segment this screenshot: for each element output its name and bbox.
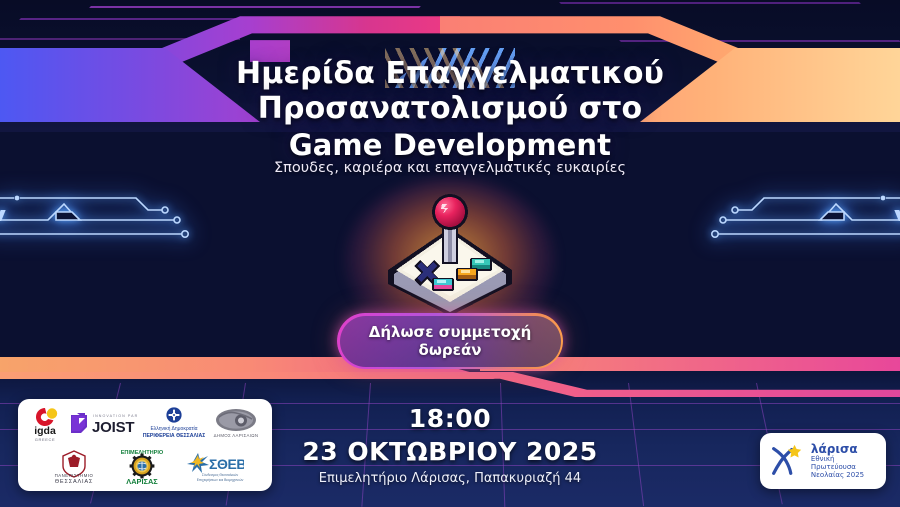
sponsor-logo-dimos-larisaion: ΔΗΜΟΣ ΛΑΡΙΣΑΙΩΝ: [210, 406, 262, 444]
larisa-badge-text: λάρισα Εθνική Πρωτεύουσα Νεολαίας 2025: [811, 443, 878, 480]
poster-content: Ημερίδα Επαγγελματικού Προσανατολισμού σ…: [0, 0, 900, 507]
sponsor-uth-line1: ΠΑΝΕΠΙΣΤΗΜΙΟ: [54, 473, 93, 478]
register-button-inner[interactable]: Δήλωσε συμμετοχή δωρεάν: [340, 316, 561, 367]
sponsor-stheb-name: ΣΘΕΒ: [209, 456, 244, 472]
larisa-badge-name: λάρισα: [811, 443, 878, 456]
sponsor-perifereia-line1: Ελληνική Δημοκρατία: [150, 425, 197, 432]
sponsor-logo-joist: INNOVATION PARK JOIST: [67, 409, 137, 441]
register-button[interactable]: Δήλωσε συμμετοχή δωρεάν: [337, 313, 563, 369]
title-line-1: Ημερίδα Επαγγελματικού: [0, 57, 900, 92]
sponsor-stheb-line2: Επιχειρήσεων και Βιομηχανιών: [197, 478, 244, 482]
subtitle: Σπουδες, καριέρα και επαγγελματικές ευκα…: [0, 160, 900, 176]
larisa-badge-sub2: Νεολαίας 2025: [811, 472, 878, 480]
sponsor-igda-sub: GREECE: [35, 437, 56, 442]
arcade-joystick-icon: [370, 192, 530, 322]
star-icon: [788, 445, 801, 458]
larisa-badge-sub1: Εθνική Πρωτεύουσα: [811, 456, 878, 472]
larisa-x-icon: [768, 442, 806, 480]
title-line-3: Game Development: [0, 129, 900, 163]
button-orange: [456, 268, 478, 281]
sponsor-joist-name: JOIST: [92, 419, 134, 436]
sponsor-uth-line2: ΘΕΣΣΑΛΙΑΣ: [54, 479, 92, 485]
sponsor-logo-epimelitirio-larisas: ΕΠΙΜΕΛΗΤΗΡΙΟ: [111, 448, 173, 486]
sponsor-logos-panel: igda GREECE INNOVATION PARK JOIST: [18, 399, 272, 491]
sponsor-perifereia-line2: ΠΕΡΙΦΕΡΕΙΑ ΘΕΣΣΑΛΙΑΣ: [143, 433, 205, 439]
sponsor-igda-name: igda: [34, 425, 56, 437]
page-title: Ημερίδα Επαγγελματικού Προσανατολισμού σ…: [0, 57, 900, 162]
arcade-joystick-illustration: [340, 192, 560, 322]
sponsor-row-top: igda GREECE INNOVATION PARK JOIST: [25, 405, 265, 445]
sponsor-stheb-line1: Σύνδεσμος Θεσσαλικών: [202, 473, 239, 477]
register-button-label-line2: δωρεάν: [419, 341, 482, 359]
sponsor-dimos-name: ΔΗΜΟΣ ΛΑΡΙΣΑΙΩΝ: [214, 433, 259, 438]
register-button-label-line1: Δήλωσε συμμετοχή: [369, 323, 532, 341]
larisa-youth-capital-badge: λάρισα Εθνική Πρωτεύουσα Νεολαίας 2025: [760, 433, 886, 489]
sponsor-logo-stheb: ΣΘΕΒ Σύνδεσμος Θεσσαλικών Επιχειρήσεων κ…: [182, 450, 244, 484]
button-pink: [432, 278, 454, 291]
sponsor-logo-panepistimio-thessalias: ΠΑΝΕΠΙΣΤΗΜΙΟ ΘΕΣΣΑΛΙΑΣ: [46, 449, 102, 485]
title-line-2: Προσανατολισμού στο: [0, 92, 900, 127]
sponsor-logo-igda: igda GREECE: [28, 405, 62, 445]
sponsor-logo-perifereia-thessalias: Ελληνική Δημοκρατία ΠΕΡΙΦΕΡΕΙΑ ΘΕΣΣΑΛΙΑΣ: [143, 406, 205, 444]
sponsor-row-bottom: ΠΑΝΕΠΙΣΤΗΜΙΟ ΘΕΣΣΑΛΙΑΣ ΕΠΙΜΕΛΗΤΗΡΙΟ: [25, 448, 265, 486]
event-poster: Ημερίδα Επαγγελματικού Προσανατολισμού σ…: [0, 0, 900, 507]
sponsor-epimelitirio-line2: ΛΑΡΙΣΑΣ: [126, 477, 158, 486]
sponsor-joist-sup: INNOVATION PARK: [93, 414, 137, 418]
